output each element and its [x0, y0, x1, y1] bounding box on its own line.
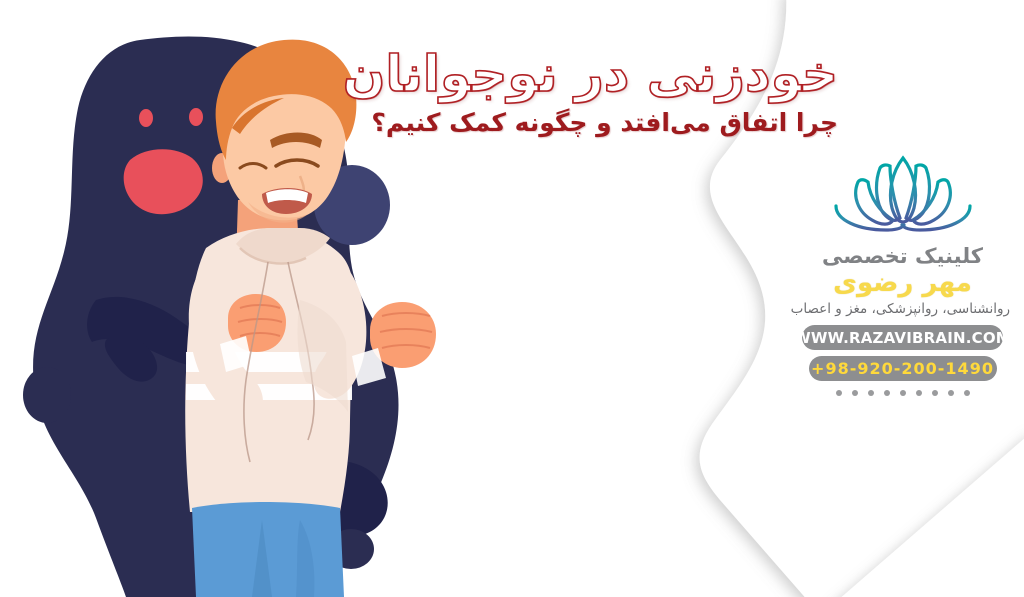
separator-dot [916, 390, 922, 396]
separator-dot [836, 390, 842, 396]
page-subtitle: چرا اتفاق می‌افتد و چگونه کمک کنیم؟ [368, 107, 838, 138]
separator-dot [852, 390, 858, 396]
page-title: خودزنی در نوجوانان [368, 48, 838, 101]
phone-text: +98-920-200-1490 [811, 359, 994, 378]
separator-dot [932, 390, 938, 396]
clinic-logo-block: کلینیک تخصصی مهر رضوی روانشناسی، روانپزش… [795, 148, 1010, 396]
brand-top-label: کلینیک تخصصی [795, 244, 1010, 268]
headline-block: خودزنی در نوجوانان چرا اتفاق می‌افتد و چ… [368, 48, 838, 138]
separator-dot [884, 390, 890, 396]
monster-eye-left [139, 109, 153, 127]
website-badge[interactable]: WWW.RAZAVIBRAIN.COM [802, 325, 1003, 350]
monster-eye-right [189, 108, 203, 126]
banner-root: خودزنی در نوجوانان چرا اتفاق می‌افتد و چ… [0, 0, 1024, 597]
decorative-blob-left [23, 367, 71, 423]
lotus-flower-icon [828, 148, 978, 234]
website-text: WWW.RAZAVIBRAIN.COM [794, 329, 1011, 347]
phone-badge[interactable]: +98-920-200-1490 [809, 356, 997, 381]
brand-specialties: روانشناسی، روانپزشکی، مغز و اعصاب [795, 301, 1010, 319]
separator-dot [900, 390, 906, 396]
panel-corner-fold [830, 430, 1024, 597]
brand-name: مهر رضوی [795, 269, 1010, 298]
dot-separator-row [795, 390, 1010, 396]
separator-dot [868, 390, 874, 396]
separator-dot [964, 390, 970, 396]
separator-dot [948, 390, 954, 396]
